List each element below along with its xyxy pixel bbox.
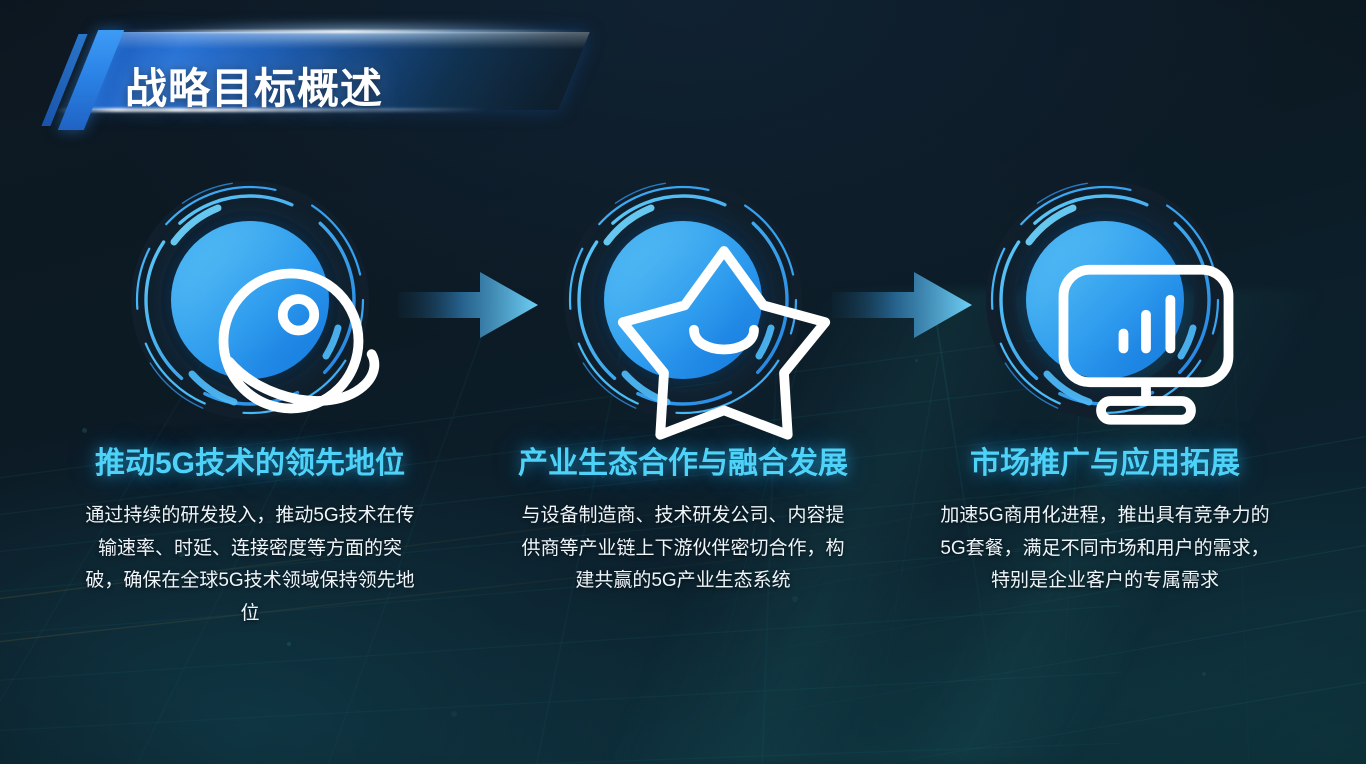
column-3: 市场推广与应用拓展 加速5G商用化进程，推出具有竞争力的5G套餐，满足不同市场和… [905, 180, 1305, 598]
column-2: 产业生态合作与融合发展 与设备制造商、技术研发公司、内容提供商等产业链上下游伙伴… [483, 180, 883, 598]
planet-icon [171, 221, 329, 379]
slide-root: 战略目标概述 [0, 0, 1366, 764]
column-body-1: 通过持续的研发投入，推动5G技术在传输速率、时延、连接密度等方面的突破，确保在全… [85, 500, 415, 631]
star-smile-icon [604, 221, 762, 379]
badge-3[interactable] [985, 180, 1225, 420]
badge-2[interactable] [563, 180, 803, 420]
column-body-2: 与设备制造商、技术研发公司、内容提供商等产业链上下游伙伴密切合作，构建共赢的5G… [518, 500, 848, 598]
badge-1[interactable] [130, 180, 370, 420]
column-body-3: 加速5G商用化进程，推出具有竞争力的5G套餐，满足不同市场和用户的需求，特别是企… [940, 500, 1270, 598]
columns-container: 推动5G技术的领先地位 通过持续的研发投入，推动5G技术在传输速率、时延、连接密… [0, 0, 1366, 764]
column-1: 推动5G技术的领先地位 通过持续的研发投入，推动5G技术在传输速率、时延、连接密… [50, 180, 450, 631]
monitor-chart-icon [1026, 221, 1184, 379]
